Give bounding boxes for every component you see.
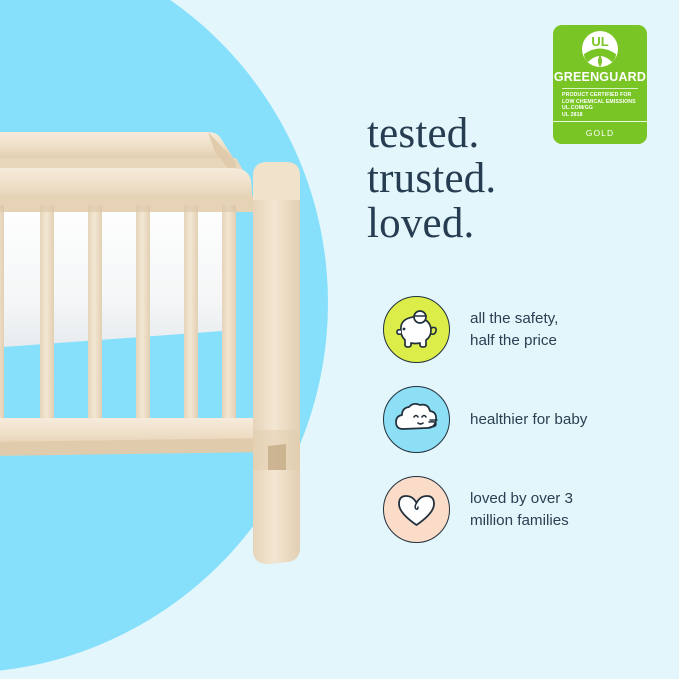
heart-icon <box>383 476 450 543</box>
headline-line-3: loved. <box>367 201 667 246</box>
feature-label: all the safety, half the price <box>470 308 558 352</box>
smiling-cloud-icon <box>383 386 450 453</box>
greenguard-wordmark: GREENGUARD <box>553 70 647 84</box>
list-item: all the safety, half the price <box>383 296 663 363</box>
product-feature-banner: UL GREENGUARD PRODUCT CERTIFIED FOR LOW … <box>0 0 679 679</box>
feature-label: loved by over 3 million families <box>470 488 573 532</box>
piggy-bank-icon <box>383 296 450 363</box>
svg-text:UL: UL <box>591 34 608 49</box>
headline-line-1: tested. <box>367 111 667 156</box>
badge-divider <box>562 88 638 89</box>
page-title: tested. trusted. loved. <box>367 111 667 246</box>
feature-list: all the safety, half the price healthier… <box>383 296 663 566</box>
headline-line-2: trusted. <box>367 156 667 201</box>
ul-emblem-icon: UL <box>580 29 620 69</box>
feature-label: healthier for baby <box>470 409 587 431</box>
cert-line-1: PRODUCT CERTIFIED FOR <box>562 92 638 99</box>
crib-product-photo <box>0 0 320 600</box>
list-item: healthier for baby <box>383 386 663 453</box>
list-item: loved by over 3 million families <box>383 476 663 543</box>
cert-line-2: LOW CHEMICAL EMISSIONS <box>562 99 638 106</box>
